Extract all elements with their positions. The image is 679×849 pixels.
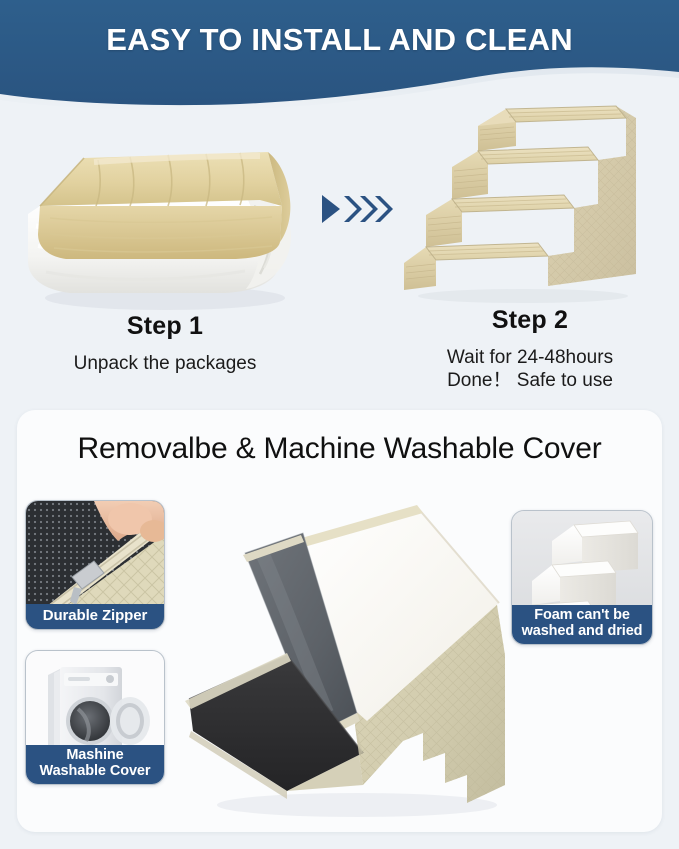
- step-1-description: Unpack the packages: [20, 352, 310, 375]
- step-2-description-line-1: Wait for 24-48hours: [390, 346, 670, 369]
- header-wave-shape: [0, 0, 679, 120]
- step-2-caption: Step 2 Wait for 24-48hours Done！ Safe to…: [390, 306, 670, 392]
- progress-arrows: [318, 189, 394, 229]
- step-1-title: Step 1: [20, 312, 310, 341]
- stairs-with-cover-peeled-back-photo: [167, 485, 537, 825]
- step-2-title: Step 2: [390, 306, 670, 335]
- feature-foam-not-washable-label-line-1: Foam can't be: [512, 608, 652, 624]
- feature-durable-zipper: Durable Zipper: [25, 500, 165, 630]
- step-2-description: Wait for 24-48hours Done！ Safe to use: [390, 346, 670, 392]
- step-1-image: [10, 122, 320, 317]
- washable-cover-card: Removalbe & Machine Washable Cover: [17, 410, 662, 832]
- feature-foam-not-washable-label-line-2: washed and dried: [512, 624, 652, 640]
- page-header: EASY TO INSTALL AND CLEAN: [0, 0, 679, 120]
- feature-machine-washable-label-line-1: Mashine: [26, 748, 164, 764]
- feature-machine-washable-label: Mashine Washable Cover: [26, 745, 164, 784]
- feature-foam-not-washable-label: Foam can't be washed and dried: [512, 605, 652, 644]
- step-1-caption: Step 1 Unpack the packages: [20, 312, 310, 375]
- chevrons-right-icon: [318, 189, 394, 229]
- steps-section: Step 1 Unpack the packages Step 2 Wait f…: [0, 104, 679, 404]
- feature-machine-washable-label-line-2: Washable Cover: [26, 764, 164, 780]
- compressed-package-photo: [10, 122, 320, 317]
- wooden-pet-stairs-photo: [398, 104, 643, 304]
- main-product-image: [167, 485, 537, 825]
- feature-durable-zipper-label: Durable Zipper: [26, 604, 164, 630]
- step-2-image: [398, 104, 643, 304]
- feature-machine-washable: Mashine Washable Cover: [25, 650, 165, 785]
- step-2-description-line-2: Done！ Safe to use: [390, 369, 670, 392]
- feature-foam-not-washable: Foam can't be washed and dried: [511, 510, 653, 645]
- page-title: EASY TO INSTALL AND CLEAN: [0, 22, 679, 58]
- cover-section-title: Removalbe & Machine Washable Cover: [17, 432, 662, 466]
